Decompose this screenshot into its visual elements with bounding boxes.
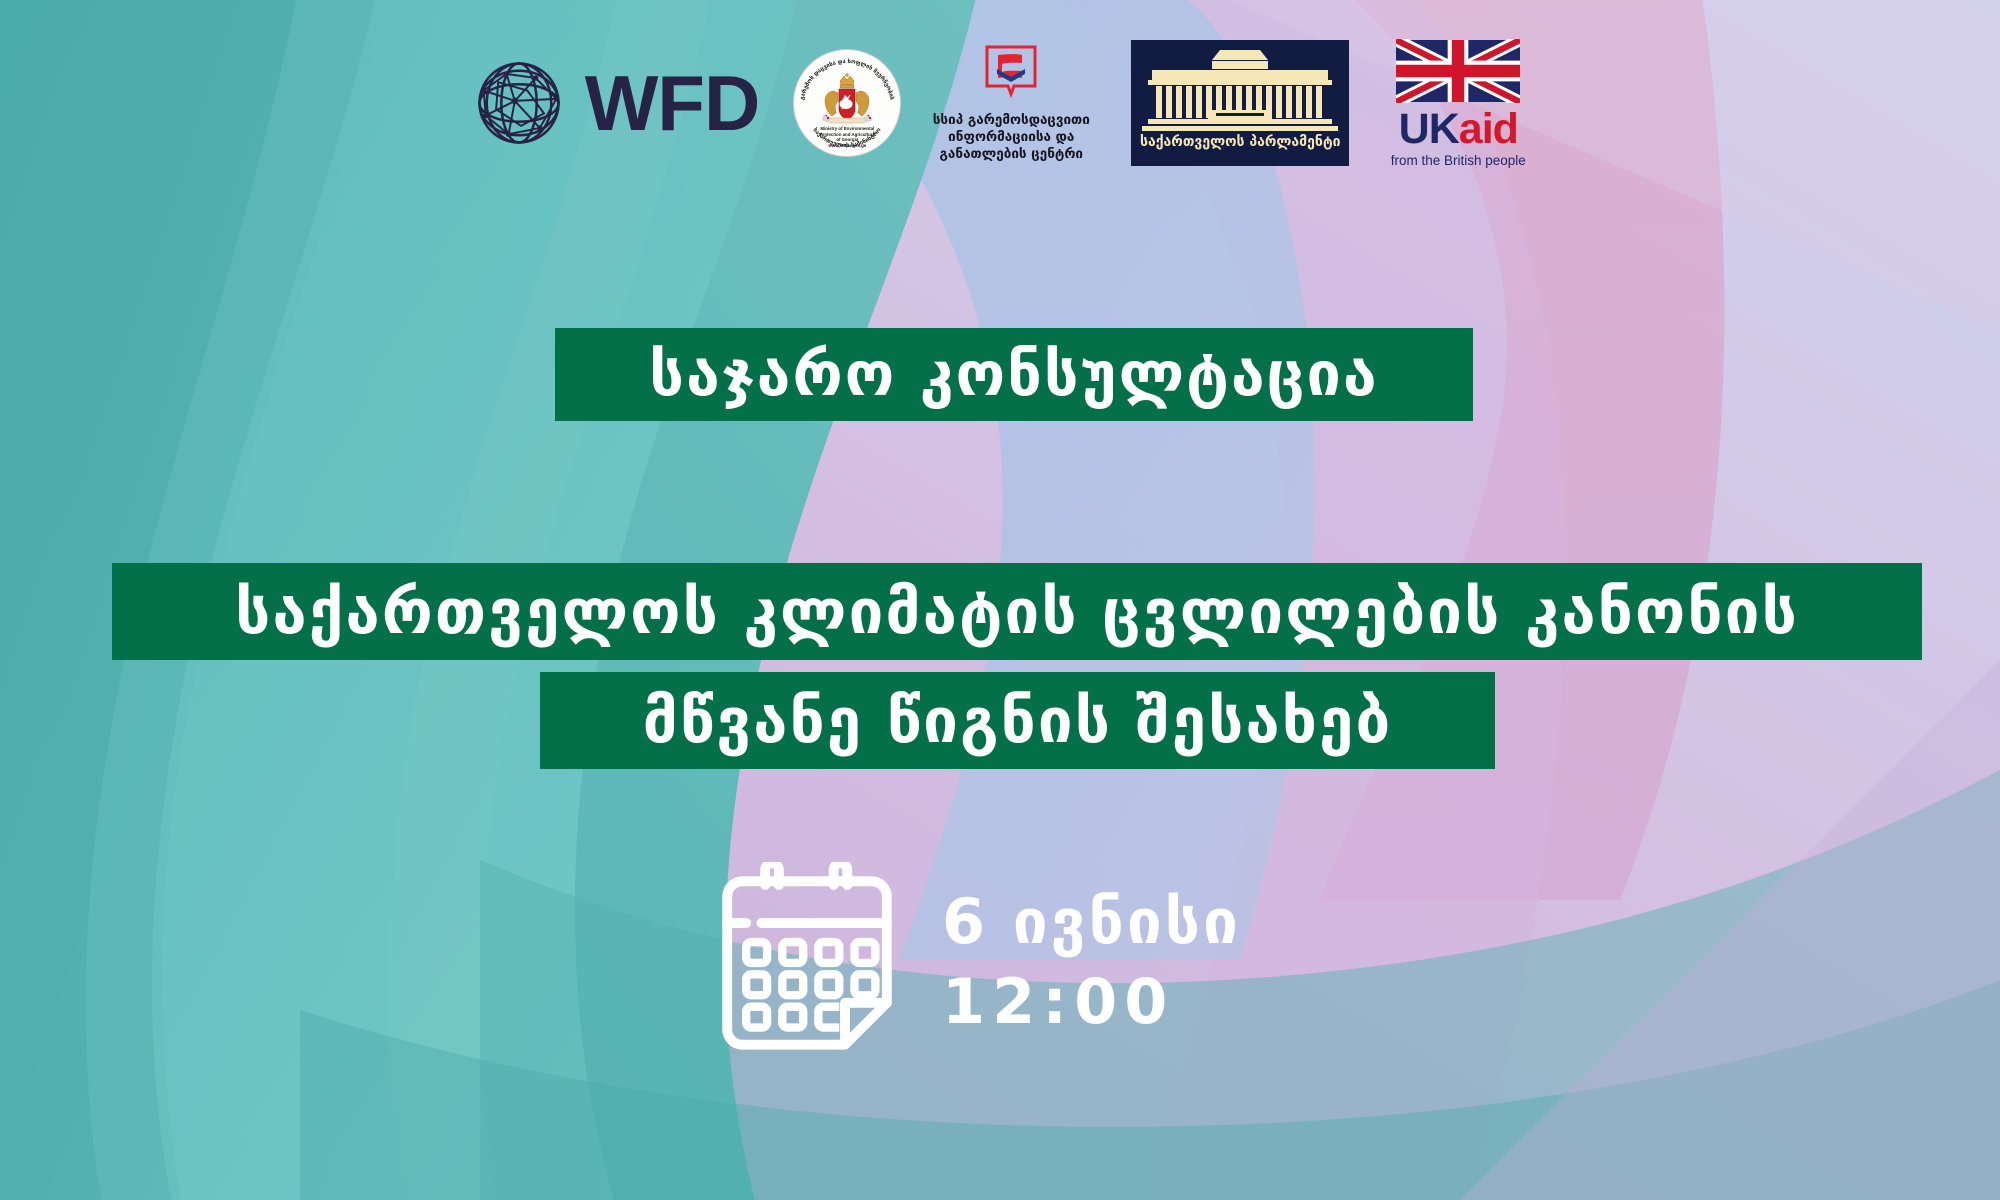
eic-line2: ინფორმაციისა და [933,129,1090,146]
parliament-label: საქართველოს პარლამენტი [1140,135,1341,149]
logo-parliament: საქართველოს პარლამენტი [1131,40,1349,166]
event-text: 6 ივნისი 12:00 [942,891,1241,1033]
logo-wfd: WFD [467,51,760,155]
eic-line1: სსიპ გარემოსდაცვითი [933,112,1090,129]
globe-wireframe-icon [467,51,571,155]
book-shield-icon [984,44,1038,106]
wfd-wordmark: WFD [585,64,760,142]
logo-ministry-seal: გარემოს დაცვისა და სოფლის მეურნეობის საქ… [793,49,901,157]
banner-law-line-1: საქართველოს კლიმატის ცვლილების კანონის [112,563,1922,660]
georgia-coat-of-arms-icon [814,73,880,129]
eic-line3: განათლების ცენტრი [933,146,1090,163]
ukaid-wordmark: UKaid [1399,108,1518,151]
banner-law-line-2: მწვანე წიგნის შესახებ [540,672,1495,769]
ukaid-word-aid: aid [1459,105,1518,153]
logo-ukaid: UKaid from the British people [1383,39,1533,168]
union-jack-flag-icon [1396,39,1520,103]
logo-strip: WFD გარემოს დაცვისა და სოფლის მეურნეობის… [0,28,2000,178]
banner-consultation-text: საჯარო კონსულტაცია [649,339,1378,410]
logo-environmental-info-center: სსიპ გარემოსდაცვითი ინფორმაციისა და განა… [921,44,1101,163]
banner-law-text-2: მწვანე წიგნის შესახებ [643,684,1393,757]
banner-law-text-1: საქართველოს კლიმატის ცვლილების კანონის [235,575,1799,648]
event-time: 12:00 [942,971,1241,1033]
seal-caption-line4: www.mepa.gov.ge [793,143,901,148]
poster-canvas: WFD გარემოს დაცვისა და სოფლის მეურნეობის… [0,0,2000,1200]
ukaid-tagline: from the British people [1391,154,1526,168]
event-date: 6 ივნისი [942,891,1241,953]
seal-caption: Ministry of Environmental Protection and… [793,126,901,148]
parliament-building-icon [1142,46,1338,134]
calendar-icon [712,862,902,1062]
banner-public-consultation: საჯარო კონსულტაცია [555,328,1473,421]
event-datetime-block: 6 ივნისი 12:00 [712,862,1241,1062]
eic-text-block: სსიპ გარემოსდაცვითი ინფორმაციისა და განა… [933,112,1090,163]
ukaid-word-uk: UK [1399,105,1459,153]
